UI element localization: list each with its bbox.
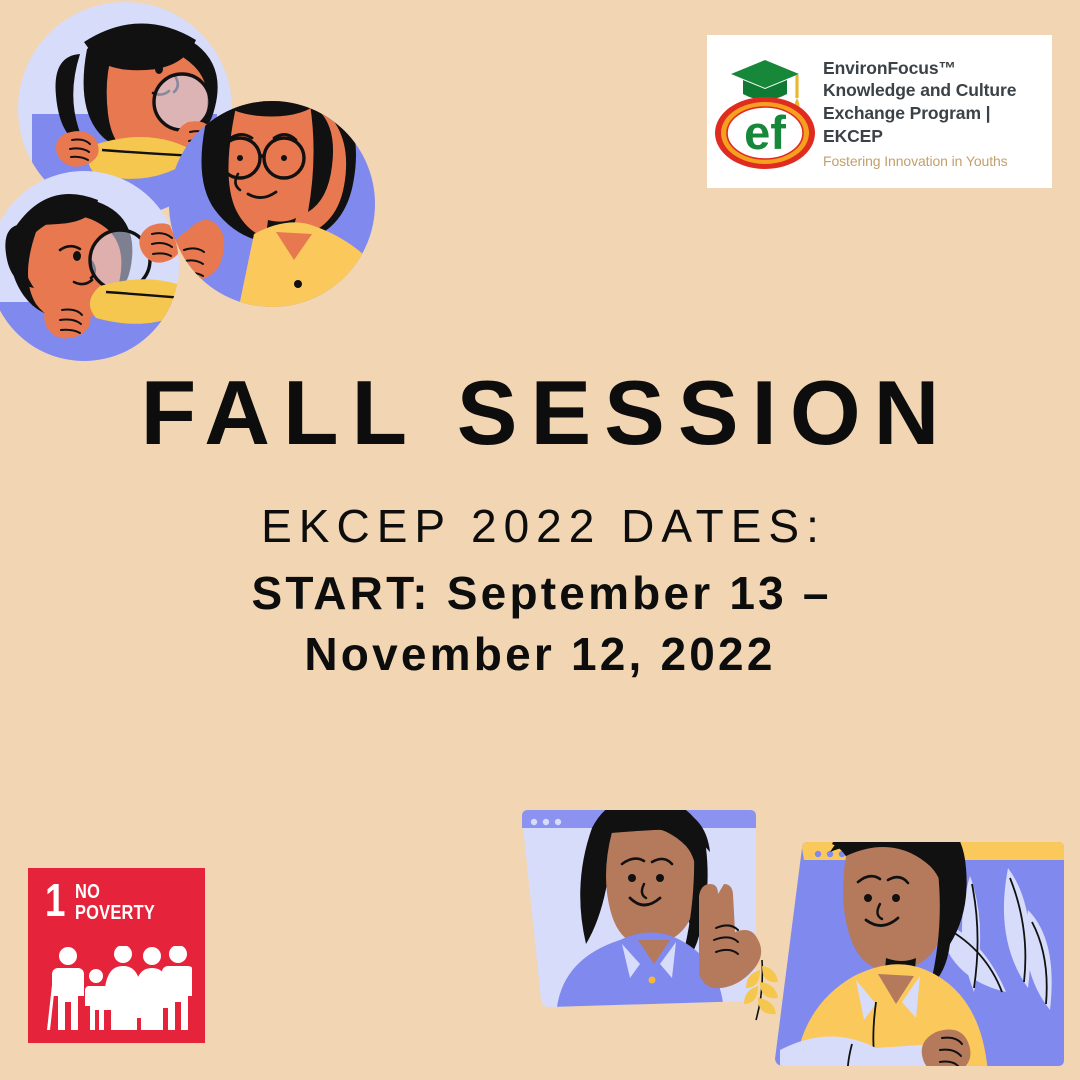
sdg-1-no-poverty-badge: 1 NO POVERTY: [28, 868, 205, 1043]
video-window-right: [775, 805, 1064, 1080]
logo-tagline: Fostering Innovation in Youths: [823, 153, 1044, 169]
logo-card: ef EnvironFocus™ Knowledge and Culture E…: [707, 35, 1052, 188]
poster-canvas: ef EnvironFocus™ Knowledge and Culture E…: [0, 0, 1080, 1080]
family-figures-icon: [42, 946, 192, 1030]
video-call-windows-illustration: [500, 780, 1080, 1080]
logo-text-block: EnvironFocus™ Knowledge and Culture Exch…: [817, 55, 1044, 169]
page-title: FALL SESSION: [0, 368, 1080, 459]
video-window-left: [522, 797, 778, 1020]
svg-text:ef: ef: [744, 106, 786, 159]
sdg-badge-heading: 1 NO POVERTY: [45, 882, 172, 924]
sdg-label-line-1: NO: [75, 882, 155, 903]
logo-line-3: Exchange Program |: [823, 102, 1044, 125]
sdg-number: 1: [45, 882, 65, 920]
sdg-label-line-2: POVERTY: [75, 903, 155, 924]
subtitle-dates: START: September 13 – November 12, 2022: [0, 563, 1080, 684]
sdg-label: NO POVERTY: [75, 882, 155, 924]
students-with-magnifiers-illustration: [0, 0, 392, 374]
subtitle-label: EKCEP 2022 DATES:: [0, 503, 1080, 549]
ef-graduation-cap-logo: ef: [713, 48, 817, 176]
logo-line-1: EnvironFocus™: [823, 57, 1044, 80]
logo-line-4: EKCEP: [823, 125, 1044, 148]
logo-line-2: Knowledge and Culture: [823, 79, 1044, 102]
